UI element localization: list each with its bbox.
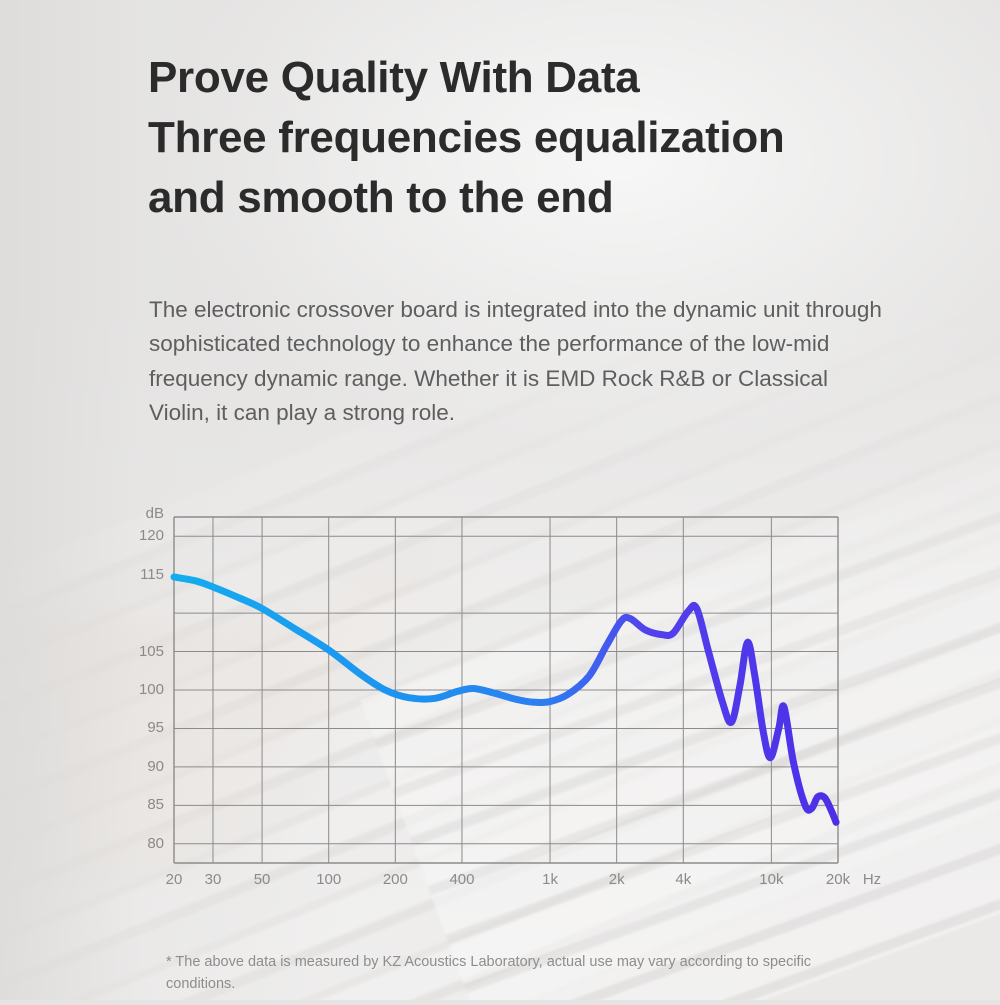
x-tick-label-200: 200 (365, 871, 425, 888)
chart-footnote: * The above data is measured by KZ Acous… (166, 951, 866, 995)
chart-curve (174, 577, 836, 822)
y-tick-label-105: 105 (112, 643, 164, 660)
x-tick-label-400: 400 (432, 871, 492, 888)
x-tick-label-4k: 4k (653, 871, 713, 888)
y-tick-label-95: 95 (112, 719, 164, 736)
x-axis-unit-label: Hz (852, 871, 892, 888)
x-tick-label-2k: 2k (587, 871, 647, 888)
x-tick-label-10k: 10k (741, 871, 801, 888)
y-tick-label-85: 85 (112, 796, 164, 813)
x-tick-label-50: 50 (232, 871, 292, 888)
y-axis-unit-label: dB (112, 505, 164, 522)
y-tick-label-80: 80 (112, 835, 164, 852)
y-tick-label-120: 120 (112, 527, 164, 544)
y-tick-label-90: 90 (112, 758, 164, 775)
y-tick-label-115: 115 (112, 566, 164, 583)
frequency-response-chart: 12011510510095908580dB2030501002004001k2… (0, 0, 1000, 1000)
y-tick-label-100: 100 (112, 681, 164, 698)
x-tick-label-1k: 1k (520, 871, 580, 888)
frequency-response-line (174, 577, 836, 822)
x-tick-label-100: 100 (299, 871, 359, 888)
